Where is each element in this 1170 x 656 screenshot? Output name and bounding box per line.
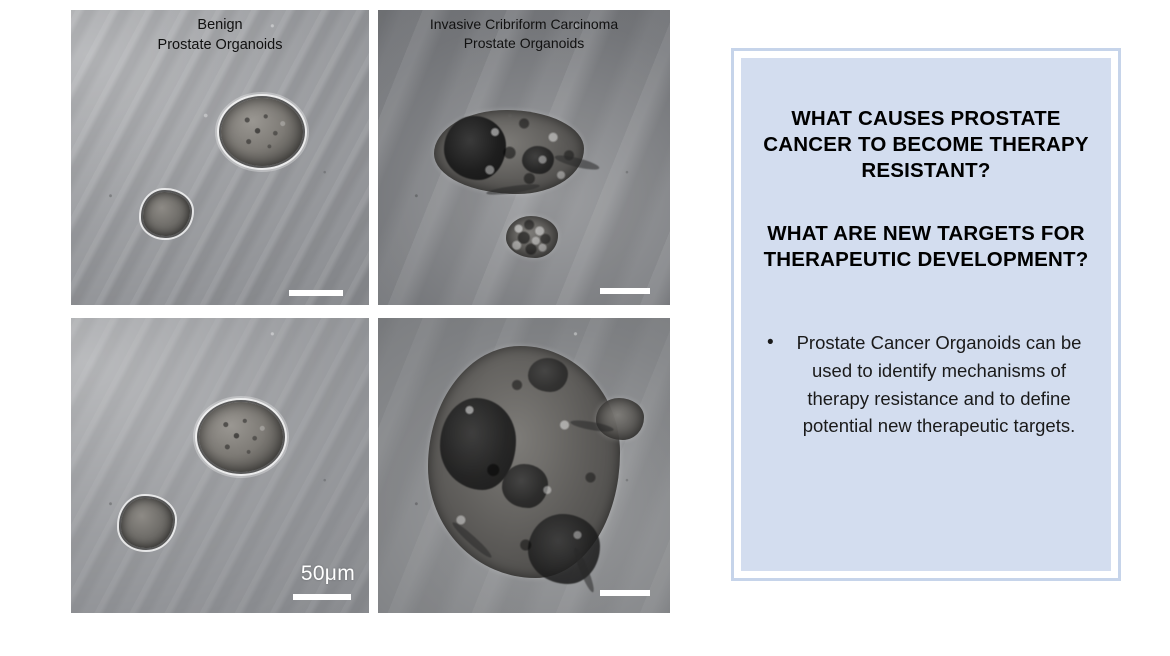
micrograph-panel-benign-day15: 50μm [71,318,369,613]
micrograph-figure: Day 8 Day 15 Benign Prostate Organoids [71,10,670,612]
panel-title-benign: Benign Prostate Organoids [71,16,369,55]
callout-box: WHAT CAUSES PROSTATE CANCER TO BECOME TH… [731,48,1121,581]
micrograph-panel-carcinoma-day15 [378,318,670,613]
scale-bar [289,290,343,296]
organoid-invasive-mass [426,106,606,204]
organoid-large [199,402,283,472]
panel-title-benign-line1: Benign [71,16,369,36]
panel-title-carcinoma: Invasive Cribriform Carcinoma Prostate O… [378,15,670,53]
callout-bullet-text: Prostate Cancer Organoids can be used to… [789,329,1089,440]
micrograph-panel-carcinoma-day8: Invasive Cribriform Carcinoma Prostate O… [378,10,670,305]
scale-bar-label: 50μm [301,562,355,586]
callout-question-2: WHAT ARE NEW TARGETS FOR THERAPEUTIC DEV… [763,221,1089,273]
organoid-invasive-mass-large [410,336,650,598]
panel-title-benign-line2: Prostate Organoids [71,36,369,56]
scale-bar [600,590,650,596]
callout-bullet-item: • Prostate Cancer Organoids can be used … [763,329,1089,440]
organoid-invasive-satellite [506,216,562,260]
callout-inner-panel: WHAT CAUSES PROSTATE CANCER TO BECOME TH… [741,58,1111,571]
scale-bar [293,594,351,600]
scale-bar [600,288,650,294]
micrograph-panel-benign-day8: Benign Prostate Organoids [71,10,369,305]
panel-title-carcinoma-line1: Invasive Cribriform Carcinoma [378,15,670,34]
bullet-marker-icon: • [763,329,789,358]
panel-title-carcinoma-line2: Prostate Organoids [378,34,670,53]
organoid-large [221,98,303,166]
callout-question-1: WHAT CAUSES PROSTATE CANCER TO BECOME TH… [763,106,1089,183]
